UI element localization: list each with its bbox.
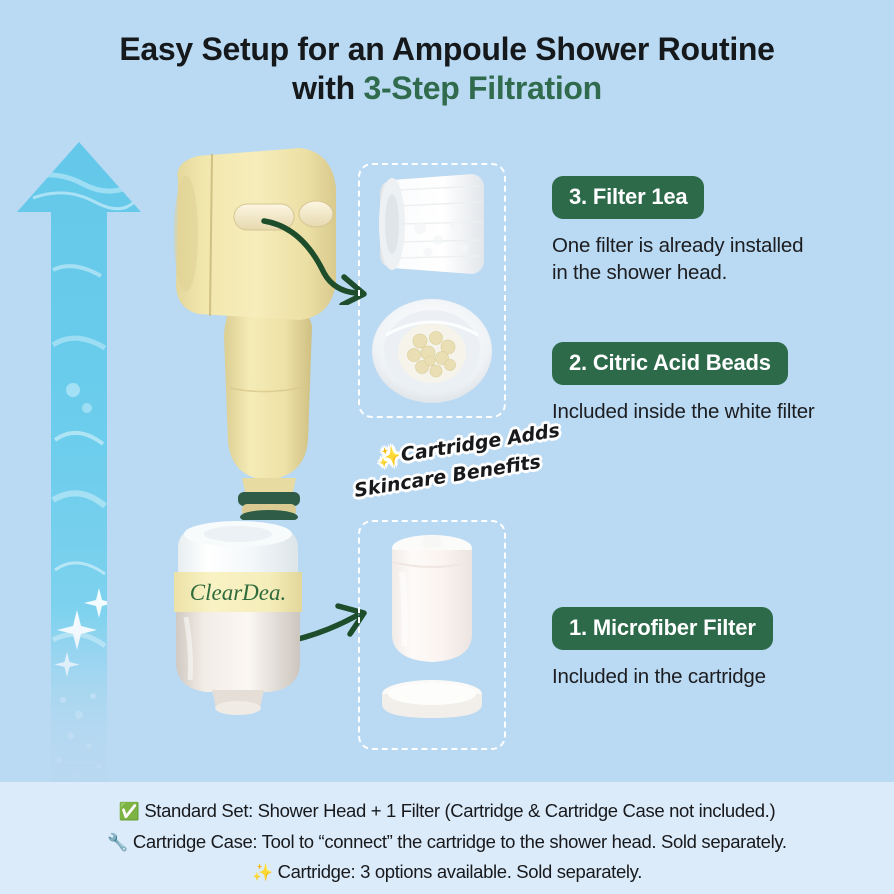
page-title: Easy Setup for an Ampoule Shower Routine…	[0, 30, 894, 108]
cartridge-product-image: ClearDea.	[160, 512, 315, 717]
title-line-2: with 3-Step Filtration	[0, 69, 894, 108]
step-2-block: 2. Citric Acid Beads Included inside the…	[552, 342, 892, 425]
footer-line-standard-set: ✅ Standard Set: Shower Head + 1 Filter (…	[0, 796, 894, 827]
white-cylinder-filter-image	[368, 168, 496, 283]
step-3-block: 3. Filter 1ea One filter is already inst…	[552, 176, 892, 287]
footer-line-cartridge-options: ✨ Cartridge: 3 options available. Sold s…	[0, 857, 894, 888]
cartridge-brand-label: ClearDea.	[190, 580, 286, 605]
step-2-description: Included inside the white filter	[552, 398, 892, 425]
cartridge-benefit-sticker: ✨Cartridge Adds Skincare Benefits	[352, 417, 572, 529]
citric-acid-beads-disc-image	[368, 295, 496, 407]
title-line-1: Easy Setup for an Ampoule Shower Routine	[0, 30, 894, 69]
step-1-block: 1. Microfiber Filter Included in the car…	[552, 607, 892, 690]
shower-head-product-image	[150, 140, 380, 520]
title-line-2-prefix: with	[292, 70, 363, 106]
check-icon: ✅	[119, 802, 140, 822]
step-1-description: Included in the cartridge	[552, 663, 892, 690]
step-3-description: One filter is already installed in the s…	[552, 232, 892, 287]
sparkle-icon: ✨	[376, 445, 403, 470]
footer-line-cartridge-case: 🔧 Cartridge Case: Tool to “connect” the …	[0, 827, 894, 858]
water-flow-arrow-icon	[13, 140, 145, 805]
arrow-to-filter-parts-icon	[258, 215, 373, 305]
footer-notes: ✅ Standard Set: Shower Head + 1 Filter (…	[0, 782, 894, 894]
step-3-badge[interactable]: 3. Filter 1ea	[552, 176, 704, 219]
wrench-icon: 🔧	[107, 833, 128, 853]
sparkles-icon: ✨	[252, 863, 273, 883]
white-filter-disc-image	[380, 678, 485, 723]
step-2-badge[interactable]: 2. Citric Acid Beads	[552, 342, 788, 385]
microfiber-filter-image	[372, 528, 492, 673]
infographic-page: Easy Setup for an Ampoule Shower Routine…	[0, 0, 894, 894]
step-1-badge[interactable]: 1. Microfiber Filter	[552, 607, 773, 650]
title-accent-text: 3-Step Filtration	[363, 70, 601, 106]
